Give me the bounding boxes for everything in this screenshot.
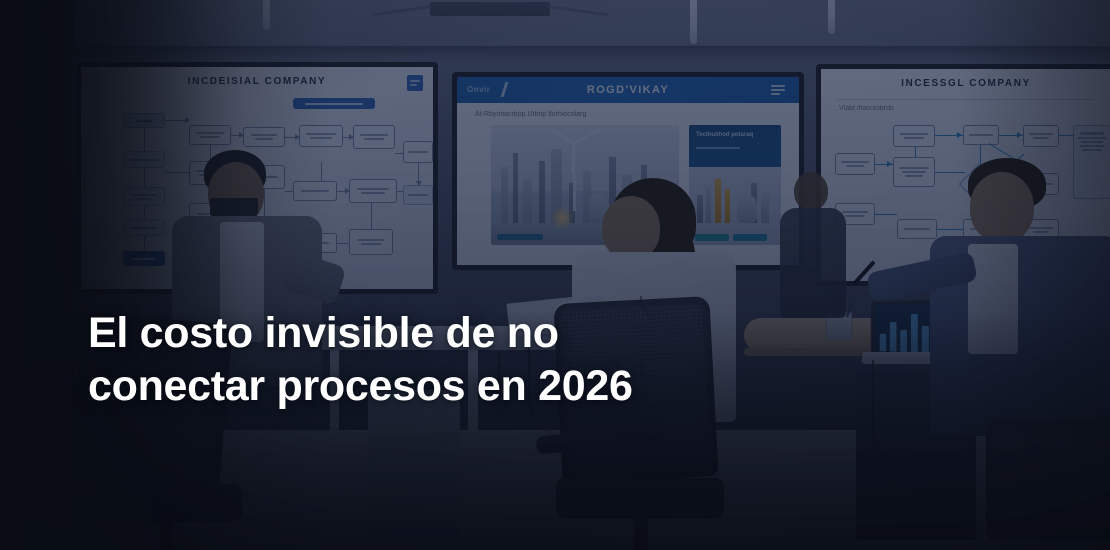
laptop-chart-bar <box>900 330 907 352</box>
left-wall <box>0 0 74 550</box>
cable <box>872 360 908 470</box>
office-chair-right <box>986 420 1110 550</box>
page-title: El costo invisible de no conectar proces… <box>88 307 848 413</box>
wall-trim <box>48 0 52 550</box>
ceiling-light <box>690 0 697 44</box>
ceiling-light <box>263 0 270 30</box>
hero-banner: INCDEISIAL COMPANY <box>0 0 1110 550</box>
flow-header-pill <box>293 98 375 109</box>
laptop-chart-bar <box>880 334 886 352</box>
laptop-chart-bar <box>922 326 929 353</box>
left-screen-title: INCDEISIAL COMPANY <box>81 76 433 87</box>
laptop-chart-bar <box>911 313 918 352</box>
presentation-header-bar: Onvir ROGD'VIKAY <box>457 77 799 103</box>
presentation-title: ROGD'VIKAY <box>457 84 799 96</box>
hamburger-menu-icon[interactable] <box>771 85 785 97</box>
person-man-right <box>930 158 1110 458</box>
company-logo-badge <box>407 75 423 91</box>
ceiling-soffit <box>0 46 1110 62</box>
right-screen-subtitle: Vlabt iftaontobrdo <box>839 105 894 112</box>
ceiling-fan <box>430 2 550 16</box>
photo-footer-tag <box>497 234 543 240</box>
presentation-subtitle: At-Rbymtacrbop Uthrip florhiocolarg <box>475 111 586 118</box>
person-back-right <box>780 172 850 322</box>
office-scene-background: INCDEISIAL COMPANY <box>0 0 1110 550</box>
right-screen-title: INCESSGL COMPANY <box>821 78 1110 89</box>
ceiling-light <box>828 0 835 34</box>
side-card-title: Tecthukhod potaraq <box>696 132 753 138</box>
laptop-chart-bar <box>890 322 897 351</box>
